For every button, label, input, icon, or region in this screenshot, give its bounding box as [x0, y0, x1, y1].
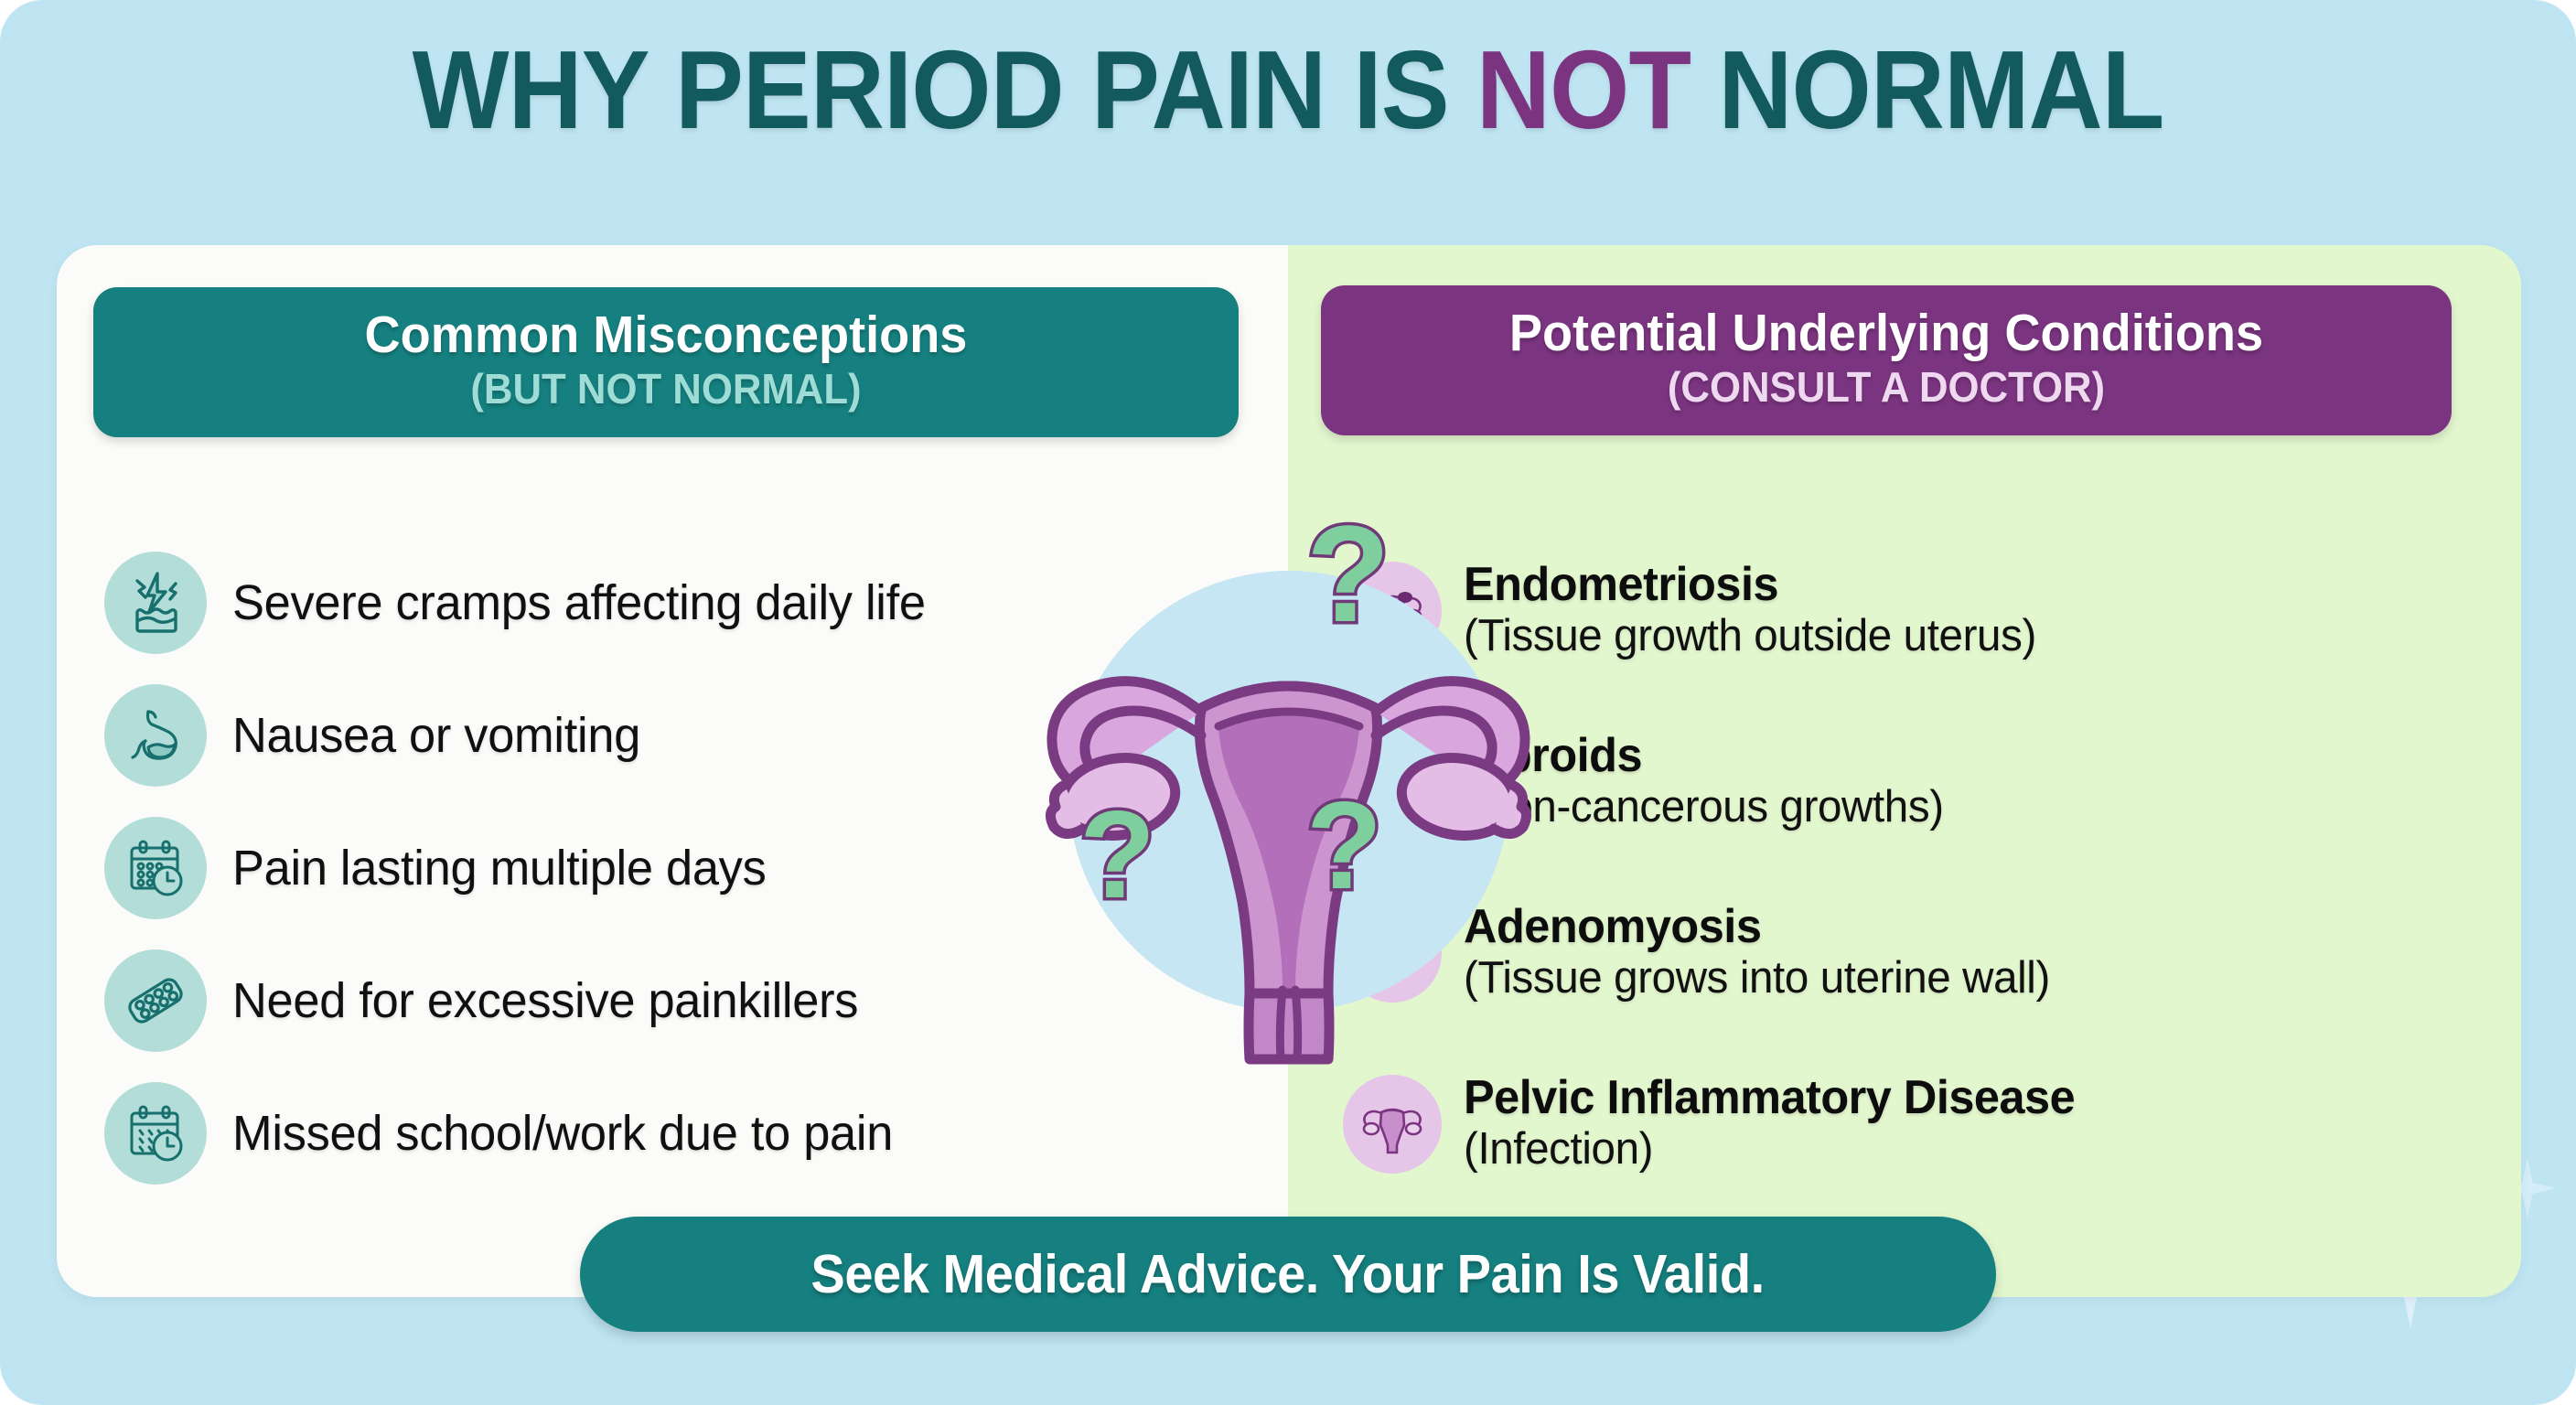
uterus-pid-icon [1343, 1075, 1442, 1174]
condition-text-group: Fibroids (Non-cancerous growths) [1464, 731, 1959, 832]
list-item-label: Severe cramps affecting daily life [232, 574, 926, 631]
condition-name: Endometriosis [1464, 560, 2036, 610]
banner-label: Seek Medical Advice. Your Pain Is Valid. [811, 1243, 1765, 1305]
list-item[interactable]: Adenomyosis (Tissue grows into uterine w… [1343, 867, 2521, 1038]
list-item-label: Pain lasting multiple days [232, 840, 766, 896]
calendar-clock-icon [104, 1082, 207, 1185]
list-item[interactable]: Need for excessive painkillers [104, 934, 1257, 1067]
right-header-title: Potential Underlying Conditions [1365, 306, 2408, 360]
condition-text-group: Pelvic Inflammatory Disease (Infection) [1464, 1073, 2094, 1174]
call-to-action-banner[interactable]: Seek Medical Advice. Your Pain Is Valid. [580, 1217, 1996, 1332]
right-panel-header: Potential Underlying Conditions (CONSULT… [1321, 285, 2452, 435]
right-panel: Potential Underlying Conditions (CONSULT… [1288, 245, 2521, 1297]
condition-description: (Tissue grows into uterine wall) [1464, 954, 2050, 1003]
conditions-list: Endometriosis (Tissue growth outside ute… [1343, 525, 2521, 1209]
list-item-label: Nausea or vomiting [232, 707, 640, 764]
pill-blister-pack-icon [104, 949, 207, 1052]
title-accent-not: NOT [1476, 27, 1690, 152]
condition-description: (Non-cancerous growths) [1464, 783, 1944, 832]
uterus-endometriosis-icon [1343, 562, 1442, 660]
left-panel: Common Misconceptions (BUT NOT NORMAL) [57, 245, 1288, 1297]
uterus-adenomyosis-icon [1343, 904, 1442, 1003]
stomach-nausea-icon [104, 684, 207, 787]
list-item[interactable]: Pain lasting multiple days [104, 801, 1257, 934]
list-item[interactable]: Missed school/work due to pain [104, 1067, 1257, 1199]
left-header-title: Common Misconceptions [137, 307, 1194, 362]
calendar-clock-icon [104, 817, 207, 919]
title-part-1: WHY PERIOD PAIN IS [413, 27, 1476, 152]
condition-name: Fibroids [1464, 731, 1944, 781]
title-part-2: NORMAL [1690, 27, 2163, 152]
condition-description: (Tissue growth outside uterus) [1464, 612, 2036, 661]
list-item[interactable]: Nausea or vomiting [104, 669, 1257, 801]
uterus-fibroids-icon [1343, 733, 1442, 831]
cramps-lightning-icon [104, 552, 207, 654]
right-header-subtitle: (CONSULT A DOCTOR) [1365, 364, 2408, 412]
infographic-canvas: WHY PERIOD PAIN IS NOT NORMAL Common Mis… [0, 0, 2576, 1405]
condition-name: Pelvic Inflammatory Disease [1464, 1073, 2075, 1123]
misconceptions-list: Severe cramps affecting daily life Nause… [104, 536, 1257, 1199]
list-item[interactable]: Endometriosis (Tissue growth outside ute… [1343, 525, 2521, 696]
list-item-label: Missed school/work due to pain [232, 1105, 893, 1162]
list-item[interactable]: Severe cramps affecting daily life [104, 536, 1257, 669]
condition-text-group: Endometriosis (Tissue growth outside ute… [1464, 560, 2054, 661]
content-card: Common Misconceptions (BUT NOT NORMAL) [57, 245, 2521, 1297]
list-item-label: Need for excessive painkillers [232, 972, 858, 1029]
left-panel-header: Common Misconceptions (BUT NOT NORMAL) [93, 287, 1239, 437]
condition-name: Adenomyosis [1464, 902, 2050, 952]
page-title: WHY PERIOD PAIN IS NOT NORMAL [103, 31, 2474, 148]
condition-description: (Infection) [1464, 1125, 2075, 1174]
list-item[interactable]: Fibroids (Non-cancerous growths) [1343, 696, 2521, 867]
list-item[interactable]: Pelvic Inflammatory Disease (Infection) [1343, 1038, 2521, 1209]
left-header-subtitle: (BUT NOT NORMAL) [137, 366, 1194, 413]
condition-text-group: Adenomyosis (Tissue grows into uterine w… [1464, 902, 2068, 1003]
